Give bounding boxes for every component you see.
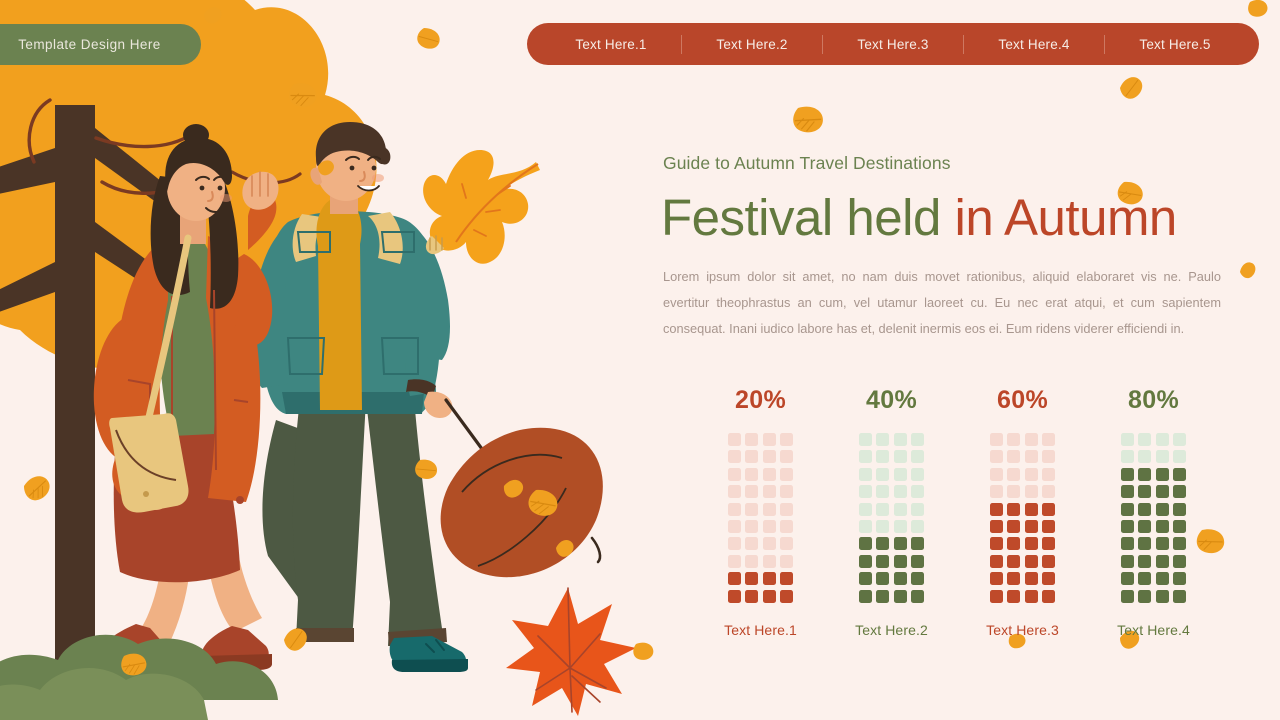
waffle-cell — [1156, 537, 1169, 550]
nav-item-3[interactable]: Text Here.3 — [823, 37, 963, 52]
waffle-cell — [990, 468, 1003, 481]
page-title-part1: Festival held — [661, 189, 954, 246]
waffle-cell — [859, 450, 872, 463]
waffle-cell — [745, 555, 758, 568]
waffle-cell — [728, 555, 741, 568]
waffle-cell — [911, 503, 924, 516]
waffle-cell — [745, 433, 758, 446]
waffle-cell — [728, 468, 741, 481]
eyebrow-subtitle: Guide to Autumn Travel Destinations — [663, 153, 951, 174]
waffle-cell — [859, 433, 872, 446]
waffle-cell — [1042, 590, 1055, 603]
stat-percent-3: 60% — [997, 386, 1048, 415]
waffle-cell — [1025, 485, 1038, 498]
waffle-cell — [780, 555, 793, 568]
waffle-cell — [1138, 590, 1151, 603]
waffle-cell — [894, 485, 907, 498]
waffle-cell — [745, 520, 758, 533]
waffle-cell — [1042, 555, 1055, 568]
waffle-cell — [911, 572, 924, 585]
nav-item-5[interactable]: Text Here.5 — [1105, 37, 1245, 52]
content-column: Guide to Autumn Travel Destinations Fest… — [663, 0, 1263, 720]
waffle-cell — [859, 520, 872, 533]
waffle-cell — [859, 468, 872, 481]
waffle-cell — [1121, 590, 1134, 603]
waffle-cell — [1156, 468, 1169, 481]
waffle-cell — [745, 503, 758, 516]
waffle-cell — [728, 450, 741, 463]
waffle-cell — [1173, 433, 1186, 446]
waffle-chart-2 — [859, 433, 924, 603]
waffle-cell — [1007, 590, 1020, 603]
waffle-cell — [1138, 433, 1151, 446]
waffle-cell — [728, 485, 741, 498]
waffle-cell — [1007, 503, 1020, 516]
waffle-cell — [1121, 485, 1134, 498]
waffle-cell — [1025, 520, 1038, 533]
waffle-cell — [1173, 572, 1186, 585]
waffle-cell — [990, 450, 1003, 463]
waffle-cell — [1173, 450, 1186, 463]
waffle-cell — [859, 485, 872, 498]
nav-separator — [681, 35, 682, 54]
waffle-cell — [763, 433, 776, 446]
nav-item-2[interactable]: Text Here.2 — [682, 37, 822, 52]
waffle-cell — [1007, 485, 1020, 498]
waffle-cell — [911, 485, 924, 498]
autumn-illustration — [0, 0, 700, 720]
waffle-cell — [1025, 590, 1038, 603]
waffle-cell — [876, 450, 889, 463]
waffle-cell — [1042, 572, 1055, 585]
stat-block-1: 20%Text Here.1 — [695, 386, 826, 638]
waffle-cell — [745, 572, 758, 585]
waffle-cell — [1025, 433, 1038, 446]
stat-block-4: 80%Text Here.4 — [1088, 386, 1219, 638]
waffle-chart-1 — [728, 433, 793, 603]
waffle-cell — [780, 537, 793, 550]
waffle-chart-3 — [990, 433, 1055, 603]
waffle-cell — [1156, 450, 1169, 463]
stat-percent-2: 40% — [866, 386, 917, 415]
waffle-cell — [911, 433, 924, 446]
stat-block-3: 60%Text Here.3 — [957, 386, 1088, 638]
waffle-cell — [1121, 468, 1134, 481]
waffle-cell — [763, 537, 776, 550]
waffle-cell — [1156, 572, 1169, 585]
waffle-cell — [1007, 520, 1020, 533]
waffle-cell — [894, 520, 907, 533]
waffle-cell — [1138, 503, 1151, 516]
template-design-badge[interactable]: Template Design Here — [0, 24, 201, 65]
waffle-cell — [1042, 433, 1055, 446]
waffle-cell — [763, 485, 776, 498]
waffle-cell — [876, 503, 889, 516]
nav-separator — [963, 35, 964, 54]
waffle-cell — [1007, 433, 1020, 446]
waffle-cell — [1138, 450, 1151, 463]
stat-label-3: Text Here.3 — [986, 622, 1059, 638]
waffle-cell — [1007, 537, 1020, 550]
waffle-cell — [1042, 503, 1055, 516]
waffle-cell — [1042, 537, 1055, 550]
waffle-cell — [1025, 537, 1038, 550]
waffle-cell — [911, 555, 924, 568]
waffle-cell — [745, 468, 758, 481]
waffle-cell — [745, 450, 758, 463]
waffle-cell — [990, 555, 1003, 568]
waffle-cell — [1042, 485, 1055, 498]
waffle-cell — [1173, 503, 1186, 516]
waffle-cell — [990, 433, 1003, 446]
page-title-part2: in Autumn — [954, 189, 1176, 246]
stat-percent-1: 20% — [735, 386, 786, 415]
waffle-cell — [1138, 537, 1151, 550]
waffle-cell — [1007, 468, 1020, 481]
waffle-cell — [1121, 503, 1134, 516]
waffle-cell — [990, 485, 1003, 498]
waffle-cell — [1025, 572, 1038, 585]
waffle-cell — [1121, 555, 1134, 568]
waffle-cell — [1121, 572, 1134, 585]
waffle-cell — [745, 485, 758, 498]
waffle-cell — [763, 590, 776, 603]
waffle-cell — [894, 590, 907, 603]
waffle-cell — [1025, 468, 1038, 481]
waffle-cell — [1173, 537, 1186, 550]
waffle-cell — [1156, 555, 1169, 568]
waffle-cell — [780, 503, 793, 516]
waffle-chart-4 — [1121, 433, 1186, 603]
waffle-cell — [990, 572, 1003, 585]
waffle-cell — [1025, 555, 1038, 568]
waffle-cell — [1156, 520, 1169, 533]
waffle-cell — [1007, 450, 1020, 463]
waffle-cell — [876, 485, 889, 498]
stat-percent-4: 80% — [1128, 386, 1179, 415]
waffle-cell — [1138, 555, 1151, 568]
waffle-cell — [1025, 450, 1038, 463]
waffle-cell — [1173, 520, 1186, 533]
template-design-badge-label: Template Design Here — [18, 37, 161, 52]
waffle-cell — [911, 520, 924, 533]
waffle-cell — [1138, 468, 1151, 481]
waffle-cell — [1121, 450, 1134, 463]
waffle-cell — [1156, 433, 1169, 446]
waffle-cell — [1138, 485, 1151, 498]
waffle-cell — [990, 520, 1003, 533]
waffle-cell — [1121, 537, 1134, 550]
stats-grid-row: 20%Text Here.140%Text Here.260%Text Here… — [695, 386, 1235, 638]
waffle-cell — [859, 590, 872, 603]
waffle-cell — [990, 590, 1003, 603]
waffle-cell — [876, 468, 889, 481]
waffle-cell — [763, 520, 776, 533]
waffle-cell — [763, 468, 776, 481]
waffle-cell — [1156, 503, 1169, 516]
stat-label-1: Text Here.1 — [724, 622, 797, 638]
waffle-cell — [894, 433, 907, 446]
waffle-cell — [1042, 520, 1055, 533]
waffle-cell — [728, 433, 741, 446]
waffle-cell — [728, 503, 741, 516]
waffle-cell — [859, 572, 872, 585]
waffle-cell — [894, 503, 907, 516]
waffle-cell — [780, 590, 793, 603]
page-title: Festival held in Autumn — [661, 188, 1177, 247]
waffle-cell — [1173, 468, 1186, 481]
waffle-cell — [728, 572, 741, 585]
waffle-cell — [780, 468, 793, 481]
nav-item-1[interactable]: Text Here.1 — [541, 37, 681, 52]
waffle-cell — [1138, 520, 1151, 533]
waffle-cell — [780, 520, 793, 533]
waffle-cell — [911, 537, 924, 550]
body-paragraph: Lorem ipsum dolor sit amet, no nam duis … — [663, 264, 1221, 343]
waffle-cell — [1042, 450, 1055, 463]
nav-separator — [822, 35, 823, 54]
waffle-cell — [876, 590, 889, 603]
waffle-cell — [1156, 590, 1169, 603]
waffle-cell — [911, 590, 924, 603]
waffle-cell — [876, 555, 889, 568]
waffle-cell — [780, 572, 793, 585]
waffle-cell — [780, 485, 793, 498]
waffle-cell — [859, 503, 872, 516]
waffle-cell — [1138, 572, 1151, 585]
waffle-cell — [990, 503, 1003, 516]
waffle-cell — [745, 590, 758, 603]
waffle-cell — [1173, 590, 1186, 603]
waffle-cell — [763, 503, 776, 516]
waffle-cell — [894, 555, 907, 568]
waffle-cell — [894, 572, 907, 585]
waffle-cell — [763, 555, 776, 568]
waffle-cell — [780, 433, 793, 446]
waffle-cell — [1025, 503, 1038, 516]
waffle-cell — [876, 572, 889, 585]
waffle-cell — [911, 450, 924, 463]
waffle-cell — [859, 537, 872, 550]
waffle-cell — [1121, 520, 1134, 533]
waffle-cell — [728, 520, 741, 533]
maple-leaf-large — [506, 588, 636, 716]
waffle-cell — [763, 450, 776, 463]
waffle-cell — [876, 433, 889, 446]
waffle-cell — [780, 450, 793, 463]
waffle-cell — [1173, 485, 1186, 498]
waffle-cell — [894, 468, 907, 481]
waffle-cell — [859, 555, 872, 568]
waffle-cell — [990, 537, 1003, 550]
waffle-cell — [1007, 572, 1020, 585]
waffle-cell — [728, 537, 741, 550]
nav-separator — [1104, 35, 1105, 54]
waffle-cell — [911, 468, 924, 481]
waffle-cell — [745, 537, 758, 550]
waffle-cell — [1007, 555, 1020, 568]
waffle-cell — [1042, 468, 1055, 481]
waffle-cell — [876, 520, 889, 533]
slide-canvas: Template Design Here Text Here.1 Text He… — [0, 0, 1280, 720]
waffle-cell — [1173, 555, 1186, 568]
waffle-cell — [876, 537, 889, 550]
waffle-cell — [894, 537, 907, 550]
waffle-cell — [763, 572, 776, 585]
stat-block-2: 40%Text Here.2 — [826, 386, 957, 638]
stat-label-4: Text Here.4 — [1117, 622, 1190, 638]
nav-item-4[interactable]: Text Here.4 — [964, 37, 1104, 52]
stat-label-2: Text Here.2 — [855, 622, 928, 638]
top-nav-bar[interactable]: Text Here.1 Text Here.2 Text Here.3 Text… — [527, 23, 1259, 65]
oak-leaf-large — [423, 150, 540, 264]
waffle-cell — [1156, 485, 1169, 498]
waffle-cell — [1121, 433, 1134, 446]
waffle-cell — [894, 450, 907, 463]
waffle-cell — [728, 590, 741, 603]
